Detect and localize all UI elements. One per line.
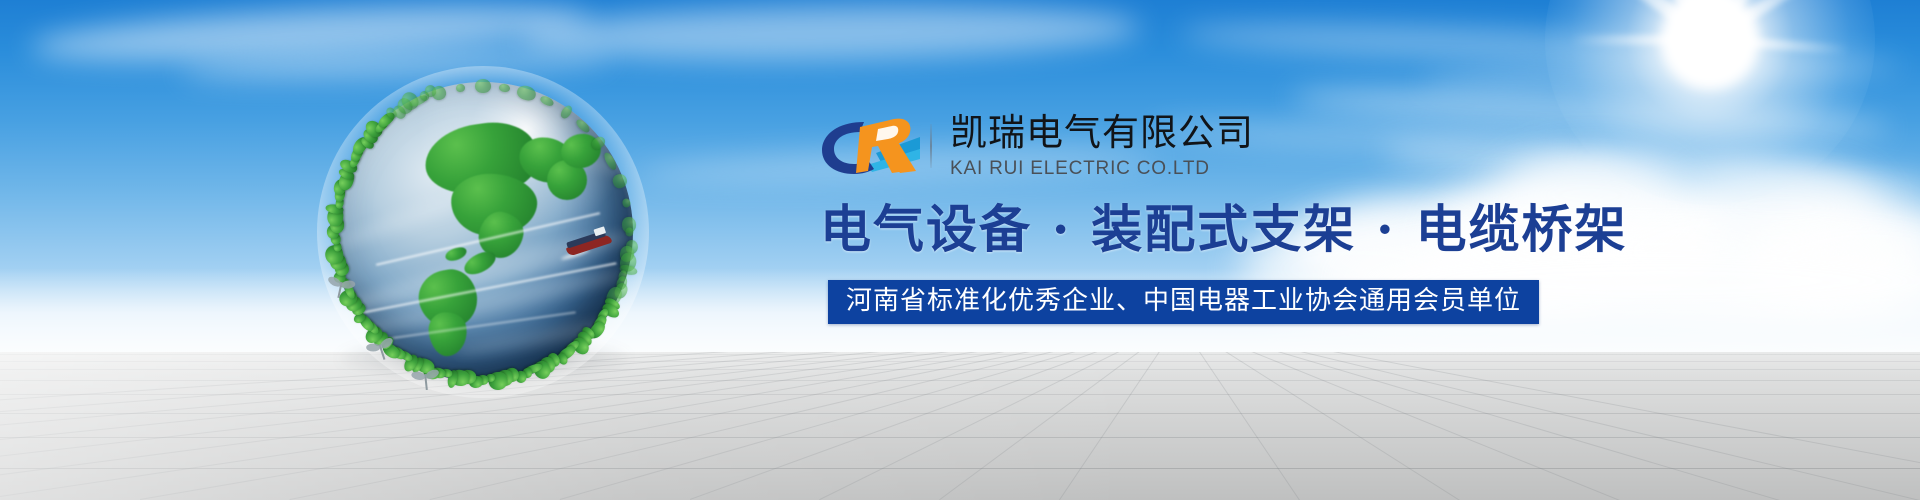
banner-content: 凯瑞电气有限公司 KAI RUI ELECTRIC CO.LTD 电气设备 · … (820, 110, 1640, 324)
brand-lockup: 凯瑞电气有限公司 KAI RUI ELECTRIC CO.LTD (820, 110, 1640, 182)
company-name-en: KAI RUI ELECTRIC CO.LTD (950, 158, 1254, 180)
globe-sphere (333, 82, 633, 382)
pavement-sheen (0, 352, 1920, 500)
brand-name-block: 凯瑞电气有限公司 KAI RUI ELECTRIC CO.LTD (950, 112, 1254, 180)
hero-tagline: 电气设备 · 装配式支架 · 电缆桥架 (820, 200, 1640, 260)
green-earth-globe (333, 82, 633, 382)
brand-divider (930, 124, 932, 168)
company-name-cn: 凯瑞电气有限公司 (950, 112, 1254, 154)
cirrus-cloud (520, 1, 1141, 66)
hero-banner: 凯瑞电气有限公司 KAI RUI ELECTRIC CO.LTD 电气设备 · … (0, 0, 1920, 500)
credentials-badge: 河南省标准化优秀企业、中国电器工业协会通用会员单位 (828, 280, 1539, 324)
tiled-plaza-pavement (0, 352, 1920, 500)
kairui-cr-logo-icon[interactable] (820, 115, 924, 177)
